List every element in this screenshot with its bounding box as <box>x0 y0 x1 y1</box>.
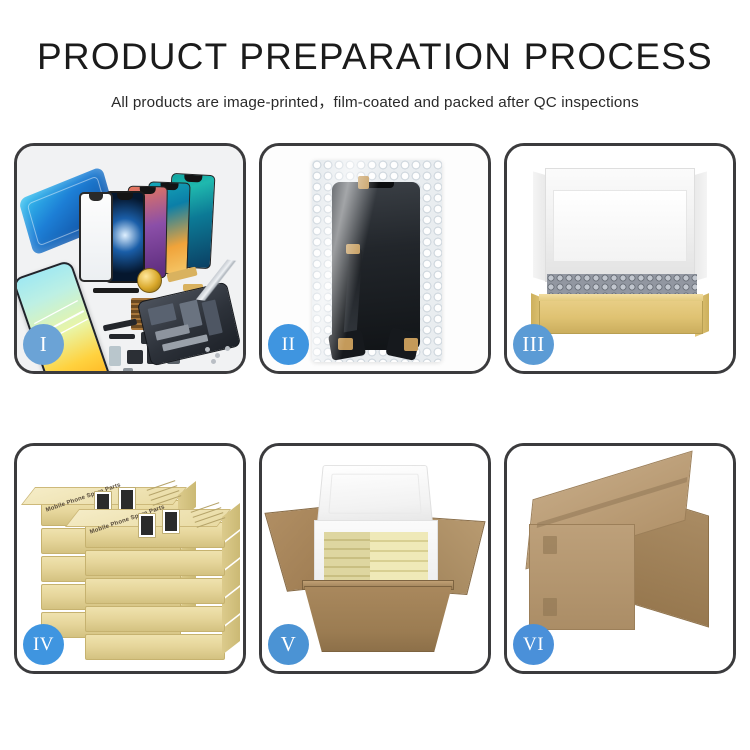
small-part-graphic-6 <box>123 368 133 371</box>
step-badge-2: II <box>268 324 309 365</box>
foam-sheet-graphic <box>553 190 687 262</box>
packed-retail-boxes-graphic <box>324 532 428 582</box>
process-step-card-3: III Placed into kraft tray box with foam… <box>504 143 736 374</box>
retail-box-graphic-f5 <box>85 634 225 660</box>
product-preparation-process-infographic: PRODUCT PREPARATION PROCESS All products… <box>0 0 750 750</box>
foam-box-lid-graphic <box>317 465 433 524</box>
header: PRODUCT PREPARATION PROCESS All products… <box>0 0 750 112</box>
small-part-graphic-1 <box>109 346 121 366</box>
tweezers-graphic <box>186 255 243 306</box>
flex-strip-graphic <box>93 288 139 293</box>
process-step-card-5: V Boxes loaded into foam box inside cart… <box>259 443 491 674</box>
process-step-grid: I Phone screens and spare components lai… <box>14 143 736 674</box>
bubble-wrap-pouch-graphic <box>312 160 442 362</box>
page-subtitle: All products are image-printed，film-coat… <box>0 90 750 112</box>
carton-tape-graphic-2 <box>543 598 557 616</box>
step-badge-5: V <box>268 624 309 665</box>
retail-box-graphic-f1: Mobile Phone Spare Parts <box>85 522 225 548</box>
process-step-card-6: VI Carton sealed and ready for shipping <box>504 443 736 674</box>
carton-body-graphic <box>304 586 452 652</box>
tray-lip-graphic <box>539 294 703 301</box>
step-badge-6: VI <box>513 624 554 665</box>
small-part-graphic-2 <box>127 350 143 364</box>
kraft-tray-graphic <box>539 298 703 334</box>
step-badge-4: IV <box>23 624 64 665</box>
process-step-card-4: Mobile Phone Spare Parts <box>14 443 246 674</box>
flex-cable-graphic-2 <box>109 334 135 339</box>
phone-graphic-1 <box>79 192 113 282</box>
process-step-card-2: II Screen assembly wrapped in bubble wra… <box>259 143 491 374</box>
step-badge-3: III <box>513 324 554 365</box>
process-step-card-1: I Phone screens and spare components lai… <box>14 143 246 374</box>
screws-graphic <box>203 345 233 363</box>
page-title: PRODUCT PREPARATION PROCESS <box>0 38 750 77</box>
gold-tab-graphic-4 <box>404 338 418 351</box>
speaker-module-graphic <box>137 268 162 293</box>
carton-tape-graphic-1 <box>543 536 557 554</box>
retail-box-graphic-f4 <box>85 606 225 632</box>
retail-box-graphic-f2 <box>85 550 225 576</box>
step-badge-1: I <box>23 324 64 365</box>
retail-box-graphic-f3 <box>85 578 225 604</box>
